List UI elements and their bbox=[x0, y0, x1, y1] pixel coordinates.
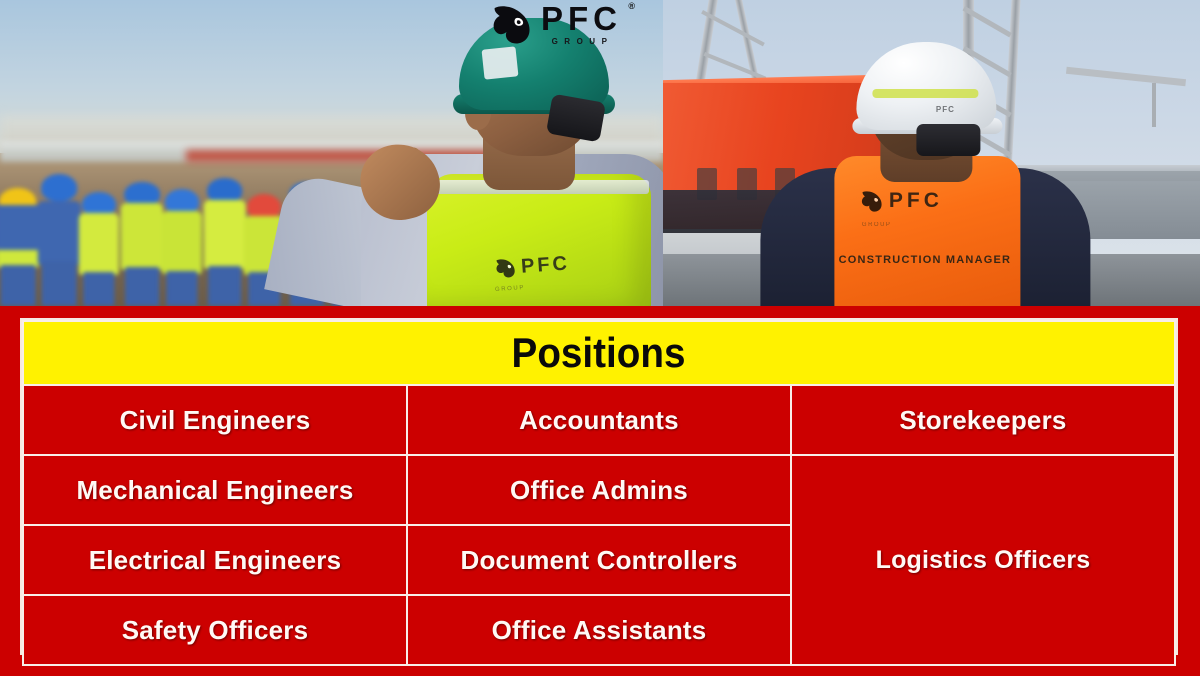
brand-name: PFC bbox=[541, 3, 622, 35]
vest-role-label: CONSTRUCTION MANAGER bbox=[839, 254, 1012, 266]
position-cell: Accountants bbox=[407, 385, 791, 455]
brand-wordmark: PFC GROUP ® bbox=[541, 3, 622, 46]
crowd-worker bbox=[159, 162, 204, 306]
position-cell: Electrical Engineers bbox=[23, 525, 407, 595]
position-cell: Mechanical Engineers bbox=[23, 455, 407, 525]
helmet-strap bbox=[916, 124, 980, 156]
vest-logo-text: PFC bbox=[889, 189, 943, 213]
position-cell: Document Controllers bbox=[407, 525, 791, 595]
white-hard-hat bbox=[856, 42, 996, 130]
crane-hook-line bbox=[1152, 83, 1156, 127]
vest-pfc-logo: PFC bbox=[860, 188, 943, 214]
positions-table-container: Positions Civil Engineers Accountants St… bbox=[20, 318, 1178, 655]
position-cell-merged: Logistics Officers bbox=[791, 455, 1175, 665]
helmet-sticker bbox=[482, 46, 519, 79]
workers-assembly-photo: PFC GROUP bbox=[0, 0, 663, 306]
positions-table: Positions Civil Engineers Accountants St… bbox=[22, 320, 1176, 666]
crowd-worker bbox=[76, 166, 121, 306]
position-cell: Office Assistants bbox=[407, 595, 791, 665]
position-cell: Safety Officers bbox=[23, 595, 407, 665]
recruitment-poster: PFC GROUP bbox=[0, 0, 1200, 676]
table-header-row: Positions bbox=[23, 321, 1175, 385]
helmet-pfc-logo: PFC bbox=[936, 105, 955, 114]
panther-head-icon bbox=[492, 3, 532, 45]
table-row: Mechanical Engineers Office Admins Logis… bbox=[23, 455, 1175, 525]
vest-logo-text: PFC bbox=[520, 252, 570, 278]
construction-manager-figure: PFC PFC GROUP CONSTRUCTION MANAGER bbox=[760, 44, 1090, 306]
page-title: Positions bbox=[512, 329, 686, 377]
position-cell: Storekeepers bbox=[791, 385, 1175, 455]
foreground-supervisor: PFC GROUP bbox=[367, 6, 663, 306]
helmet-reflective-stripe bbox=[872, 89, 978, 98]
registered-trademark-icon: ® bbox=[628, 1, 635, 11]
photo-band: PFC GROUP bbox=[0, 0, 1200, 306]
brand-subtitle: GROUP bbox=[541, 37, 622, 46]
table-row: Civil Engineers Accountants Storekeepers bbox=[23, 385, 1175, 455]
positions-title-cell: Positions bbox=[23, 321, 1175, 385]
panther-head-icon bbox=[494, 255, 518, 280]
position-cell: Civil Engineers bbox=[23, 385, 407, 455]
construction-manager-photo: PFC PFC GROUP CONSTRUCTION MANAGER bbox=[663, 0, 1200, 306]
pfc-group-logo: PFC GROUP ® bbox=[492, 3, 622, 46]
panther-head-icon bbox=[860, 188, 884, 214]
vest-logo-subtitle: GROUP bbox=[862, 222, 892, 228]
position-cell: Office Admins bbox=[407, 455, 791, 525]
